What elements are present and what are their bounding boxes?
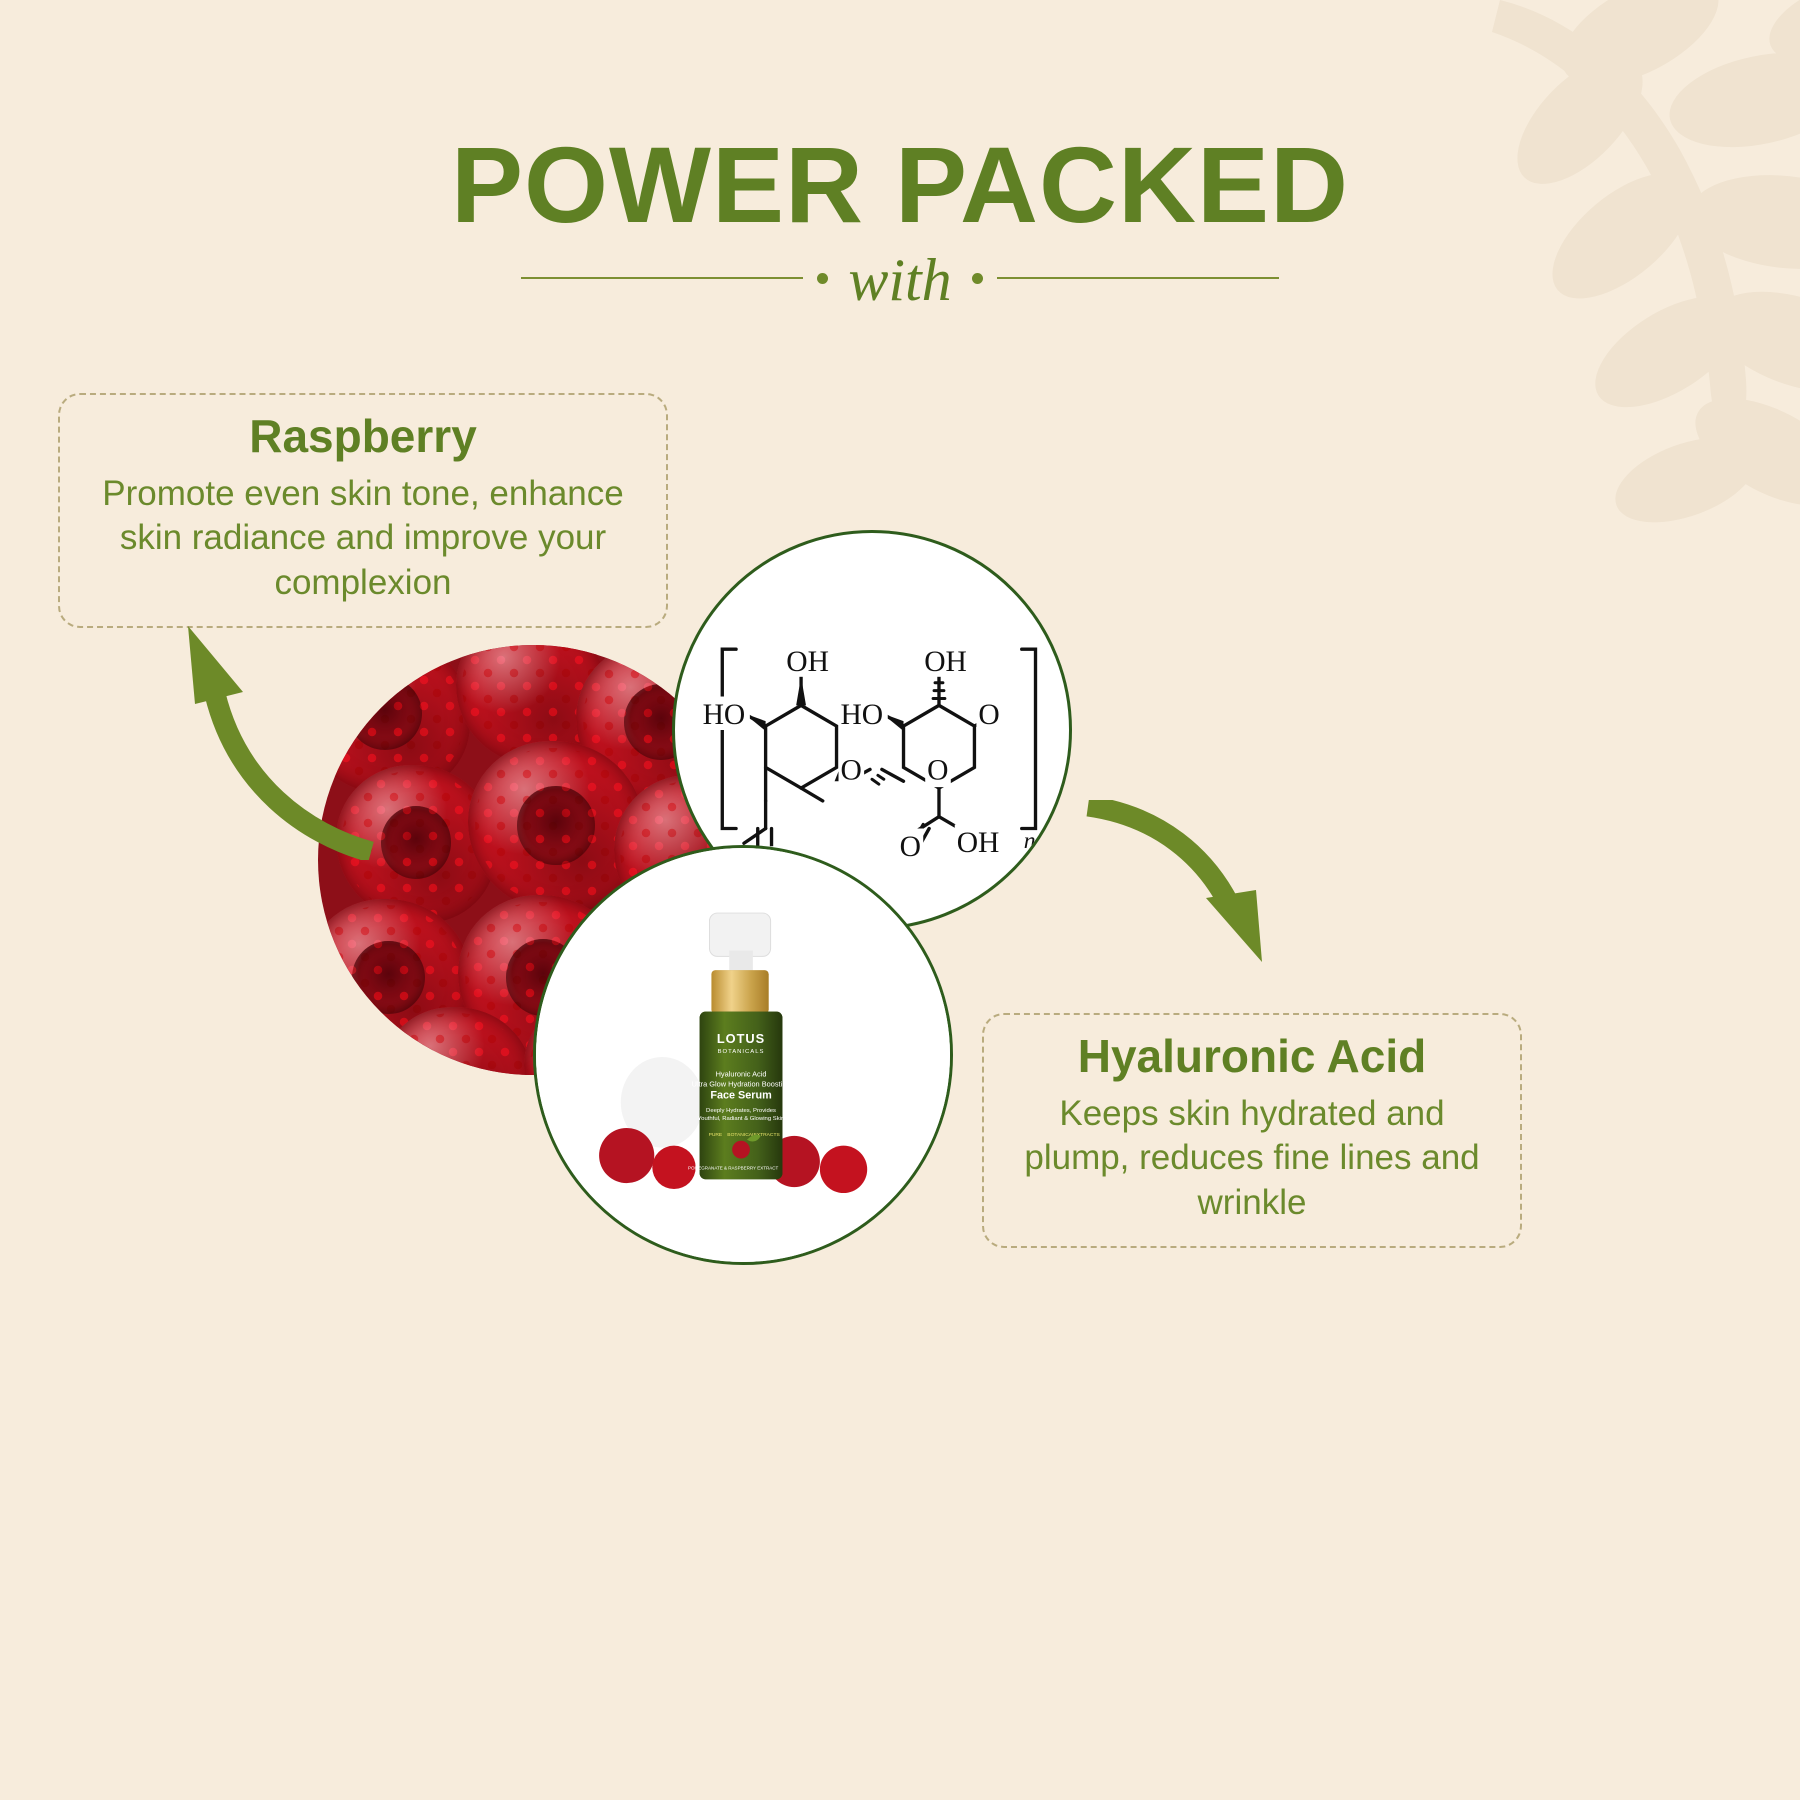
- callout-hyaluronic-acid-title: Hyaluronic Acid: [1002, 1031, 1502, 1082]
- label-o-terminal: O: [978, 699, 999, 731]
- callout-raspberry-description: Promote even skin tone, enhance skin rad…: [78, 472, 648, 606]
- product-line2: Ultra Glow Hydration Boosting: [692, 1080, 791, 1089]
- divider: with: [0, 248, 1800, 308]
- page-title: POWER PACKED: [0, 122, 1800, 247]
- divider-line-right: [997, 277, 1279, 279]
- divider-dot-right: [972, 273, 983, 284]
- label-oh-left: OH: [786, 646, 829, 678]
- label-oh-acid: OH: [957, 827, 1000, 859]
- divider-dot-left: [817, 273, 828, 284]
- infographic-canvas: POWER PACKED with Raspberry Promote even…: [0, 0, 1800, 1800]
- product-brand: LOTUS: [717, 1031, 765, 1046]
- product-footer: POMEGRANATE & RASPBERRY EXTRACT: [688, 1165, 779, 1170]
- arrow-to-hyaluronic-acid: [1080, 800, 1300, 970]
- divider-line-left: [521, 277, 803, 279]
- label-ho-mid: HO: [840, 699, 883, 731]
- product-photo-circle: LOTUS BOTANICALS Hyaluronic Acid Ultra G…: [533, 845, 953, 1265]
- product-badge-1: PURE: [709, 1132, 723, 1138]
- product-claims-1: Deeply Hydrates, Provides: [706, 1108, 776, 1114]
- divider-label: with: [842, 250, 957, 310]
- label-o-ring-right: O: [927, 754, 948, 786]
- product-line3: Face Serum: [710, 1089, 771, 1101]
- product-line1: Hyaluronic Acid: [716, 1070, 767, 1079]
- product-brand-sub: BOTANICALS: [718, 1049, 765, 1055]
- label-repeat-n: n: [1024, 828, 1036, 854]
- callout-raspberry-title: Raspberry: [78, 411, 648, 462]
- callout-hyaluronic-acid-description: Keeps skin hydrated and plump, reduces f…: [1002, 1092, 1502, 1226]
- callout-hyaluronic-acid: Hyaluronic Acid Keeps skin hydrated and …: [982, 1013, 1522, 1248]
- label-ho-left: HO: [703, 699, 746, 731]
- product-claims-2: Youthful, Radiant & Glowing Skin: [698, 1116, 784, 1122]
- callout-raspberry: Raspberry Promote even skin tone, enhanc…: [58, 393, 668, 628]
- label-oh-right: OH: [924, 646, 967, 678]
- serum-bottle-illustration: LOTUS BOTANICALS Hyaluronic Acid Ultra G…: [536, 848, 950, 1262]
- label-o-ring-left: O: [840, 754, 861, 786]
